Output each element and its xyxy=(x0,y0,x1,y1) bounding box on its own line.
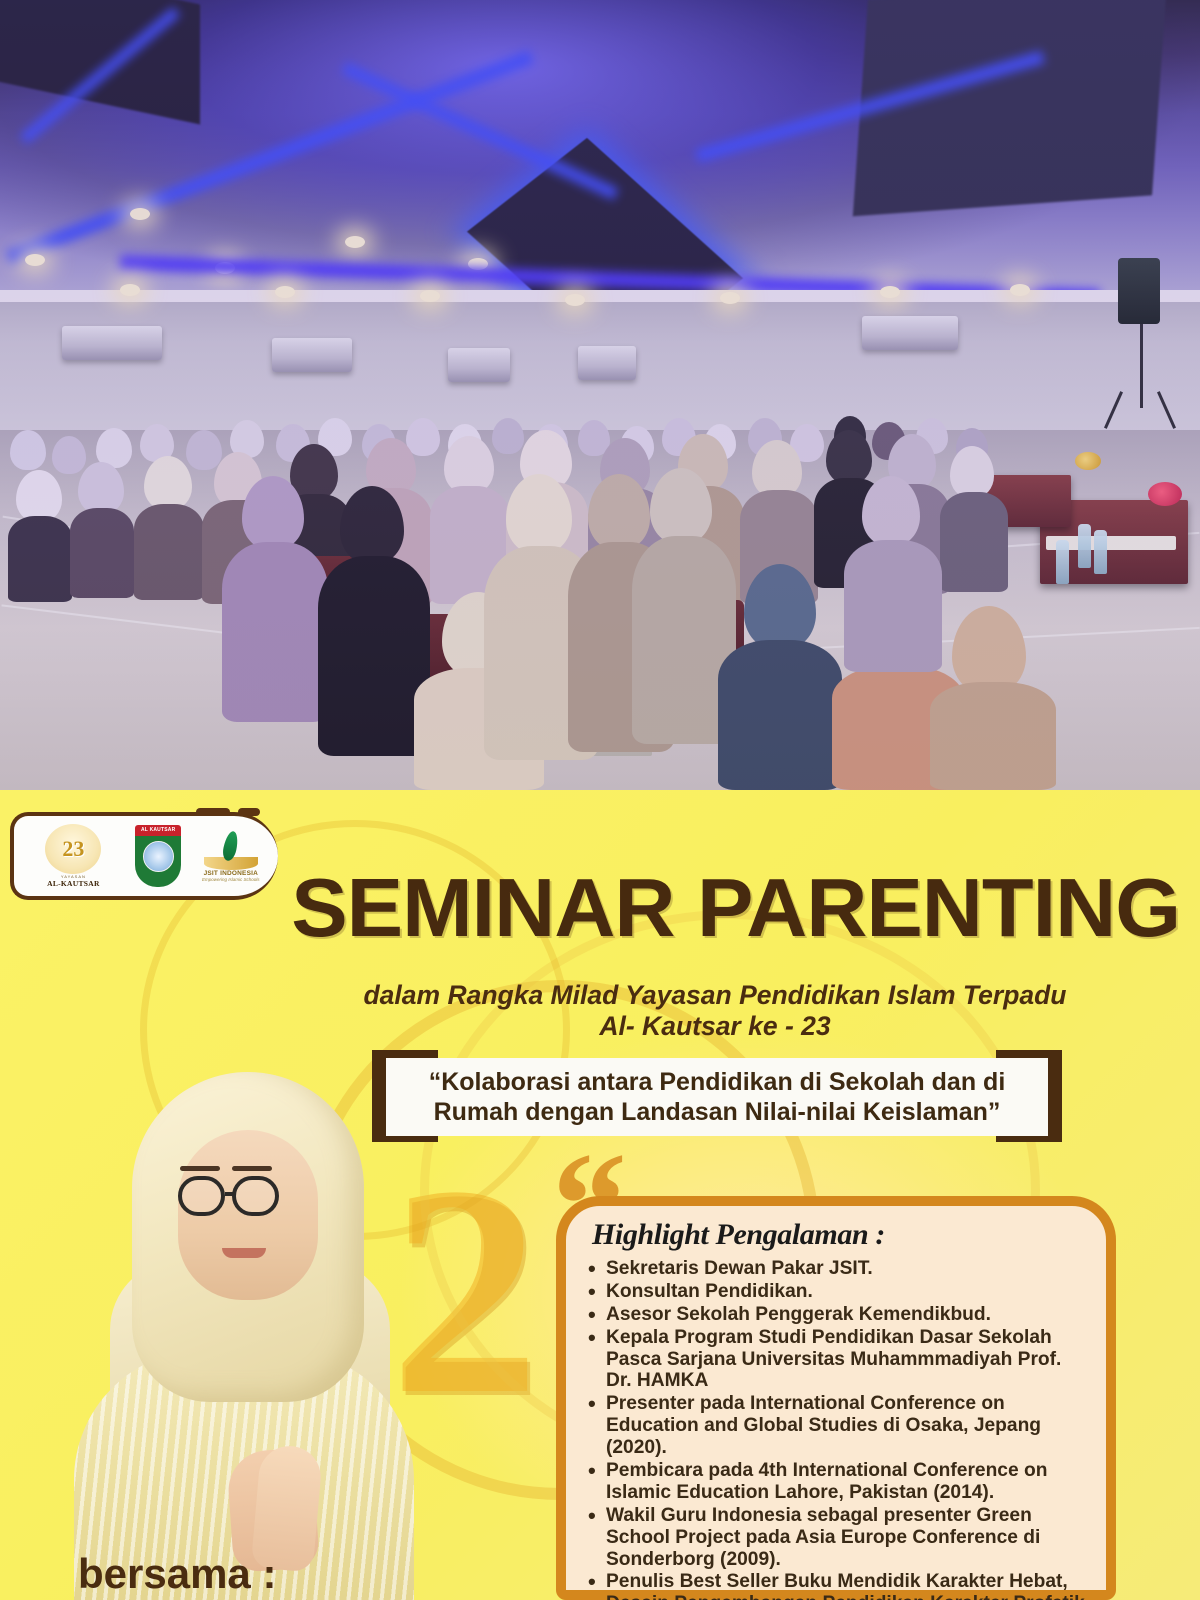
highlight-list-item: Sekretaris Dewan Pakar JSIT. xyxy=(584,1258,1090,1280)
poster-canvas: 2 YAYA “ ” 23 YAYASAN AL-KAUTSAR AL KAUT… xyxy=(0,0,1200,1600)
shield-emblem xyxy=(143,841,174,872)
theme-quote-box: “Kolaborasi antara Pendidikan di Sekolah… xyxy=(386,1058,1048,1136)
seminar-audience-photo xyxy=(0,0,1200,790)
speaker-portrait xyxy=(80,1050,410,1600)
theme-quote-text: “Kolaborasi antara Pendidikan di Sekolah… xyxy=(386,1067,1048,1128)
highlight-list-item: Pembicara pada 4th International Confere… xyxy=(584,1460,1090,1504)
jsit-indonesia-logo: JSIT INDONESIA Empowering Islamic School… xyxy=(202,831,260,882)
highlight-list-item: Presenter pada International Conference … xyxy=(584,1393,1090,1459)
subtitle-line-2: Al- Kautsar ke - 23 xyxy=(300,1011,1130,1042)
portrait-eyebrow xyxy=(180,1166,220,1171)
portrait-eyebrow xyxy=(232,1166,272,1171)
decor-dash xyxy=(238,808,260,816)
portrait-smile xyxy=(222,1248,266,1258)
highlight-list-item: Konsultan Pendidikan. xyxy=(584,1281,1090,1303)
highlight-list-item: Asesor Sekolah Penggerak Kemendikbud. xyxy=(584,1304,1090,1326)
highlight-list: Sekretaris Dewan Pakar JSIT.Konsultan Pe… xyxy=(584,1258,1090,1600)
page-title: SEMINAR PARENTING xyxy=(291,860,1189,956)
highlight-list-item: Wakil Guru Indonesia sebagal presenter G… xyxy=(584,1505,1090,1571)
glasses-icon xyxy=(178,1176,225,1216)
highlight-list-item: Kepala Program Studi Pendidikan Dasar Se… xyxy=(584,1327,1090,1393)
jsit-label: JSIT INDONESIA xyxy=(204,870,258,877)
al-kautsar-shield-logo: AL KAUTSAR xyxy=(135,825,181,887)
theme-quote-frame: “Kolaborasi antara Pendidikan di Sekolah… xyxy=(372,1050,1062,1142)
glasses-icon xyxy=(232,1176,279,1216)
shield-icon: AL KAUTSAR xyxy=(135,825,181,887)
logo-al-kautsar-label: AL-KAUTSAR xyxy=(47,879,100,888)
highlight-list-item: Penulis Best Seller Buku Mendidik Karakt… xyxy=(584,1571,1090,1600)
highlight-title: Highlight Pengalaman : xyxy=(592,1218,1090,1252)
decor-dash xyxy=(196,808,230,816)
jsit-tagline: Empowering Islamic Schools xyxy=(202,877,260,882)
poster-subtitle: dalam Rangka Milad Yayasan Pendidikan Is… xyxy=(300,980,1130,1043)
subtitle-line-1: dalam Rangka Milad Yayasan Pendidikan Is… xyxy=(300,980,1130,1011)
yayasan-al-kautsar-23-logo: 23 YAYASAN AL-KAUTSAR xyxy=(32,824,114,888)
logo-23-number: 23 xyxy=(45,824,101,874)
highlight-experience-card: Highlight Pengalaman : Sekretaris Dewan … xyxy=(556,1196,1116,1600)
glasses-bridge xyxy=(225,1192,233,1196)
shield-banner-label: AL KAUTSAR xyxy=(135,825,181,836)
logo-panel: 23 YAYASAN AL-KAUTSAR AL KAUTSAR JSIT IN… xyxy=(10,812,278,900)
audience-crowd xyxy=(0,0,1200,790)
bersama-label: bersama : xyxy=(78,1550,276,1598)
